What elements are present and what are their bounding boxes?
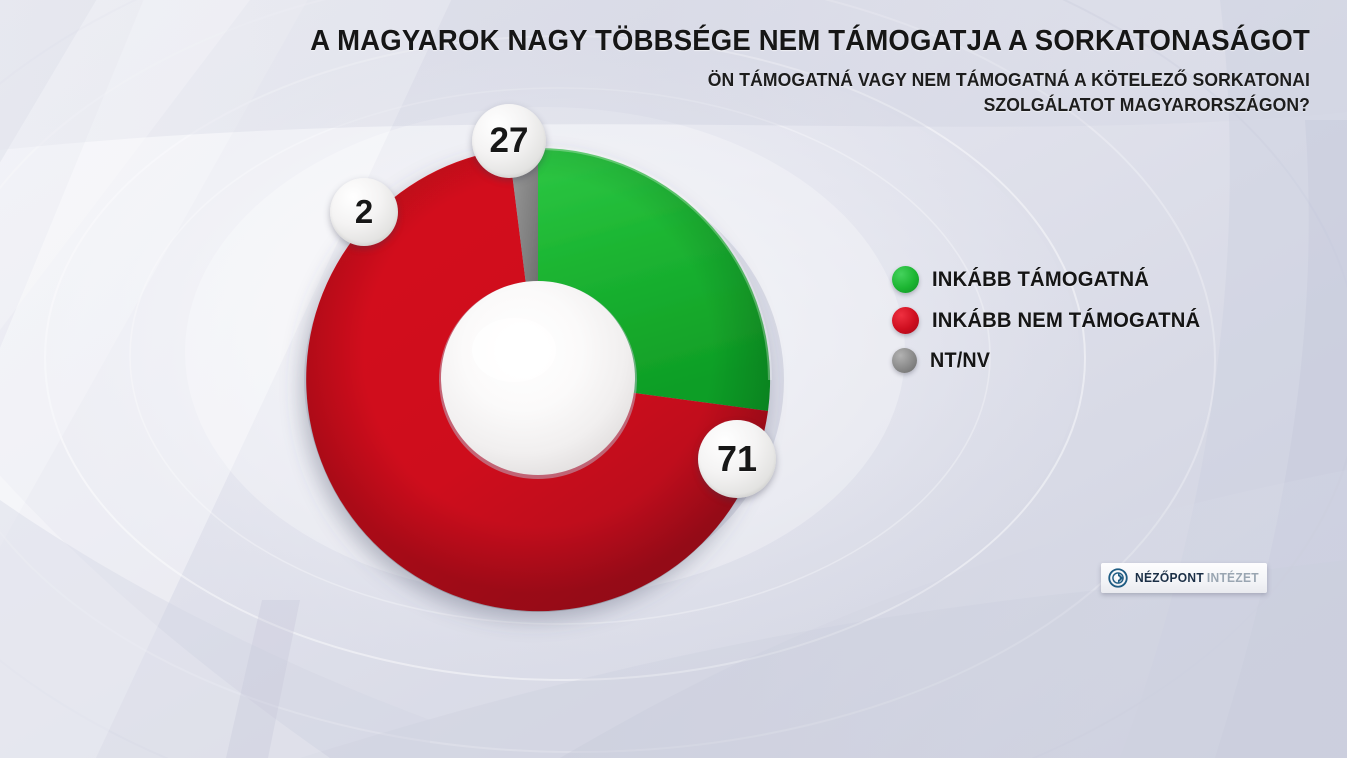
legend-dot-green-icon (892, 266, 919, 293)
legend-label-nt-nv: NT/NV (930, 349, 990, 373)
legend-dot-gray-icon (892, 348, 917, 373)
legend-label-inkabb-nem-tamogatna: INKÁBB NEM TÁMOGATNÁ (932, 308, 1200, 333)
logo-text: NÉZŐPONTINTÉZET (1135, 571, 1259, 585)
logo-name: NÉZŐPONT (1135, 571, 1204, 585)
value-badge-oppose: 71 (698, 420, 776, 498)
donut-hub (441, 281, 635, 475)
legend-item-nt-nv: NT/NV (892, 348, 1217, 373)
nezopont-circle-icon (1108, 568, 1128, 588)
legend-item-inkabb-nem-tamogatna: INKÁBB NEM TÁMOGATNÁ (892, 307, 1217, 334)
legend-item-inkabb-tamogatna: INKÁBB TÁMOGATNÁ (892, 266, 1217, 293)
page-subtitle: ÖN TÁMOGATNÁ VAGY NEM TÁMOGATNÁ A KÖTELE… (66, 68, 1311, 117)
value-badge-dontknow: 2 (330, 178, 398, 246)
nezopont-intezet-logo: NÉZŐPONTINTÉZET (1101, 563, 1267, 593)
legend-dot-red-icon (892, 307, 919, 334)
subtitle-line-2: SZOLGÁLATOT MAGYARORSZÁGON? (66, 93, 1311, 118)
page-title: A MAGYAROK NAGY TÖBBSÉGE NEM TÁMOGATJA A… (46, 26, 1310, 58)
value-badge-support: 27 (472, 104, 546, 178)
title-block: A MAGYAROK NAGY TÖBBSÉGE NEM TÁMOGATJA A… (0, 26, 1310, 117)
subtitle-line-1: ÖN TÁMOGATNÁ VAGY NEM TÁMOGATNÁ A KÖTELE… (66, 68, 1311, 93)
logo-suffix: INTÉZET (1207, 571, 1259, 585)
hub-highlight (472, 318, 556, 382)
legend-label-inkabb-tamogatna: INKÁBB TÁMOGATNÁ (932, 267, 1149, 292)
chart-legend: INKÁBB TÁMOGATNÁ INKÁBB NEM TÁMOGATNÁ NT… (892, 266, 1217, 373)
